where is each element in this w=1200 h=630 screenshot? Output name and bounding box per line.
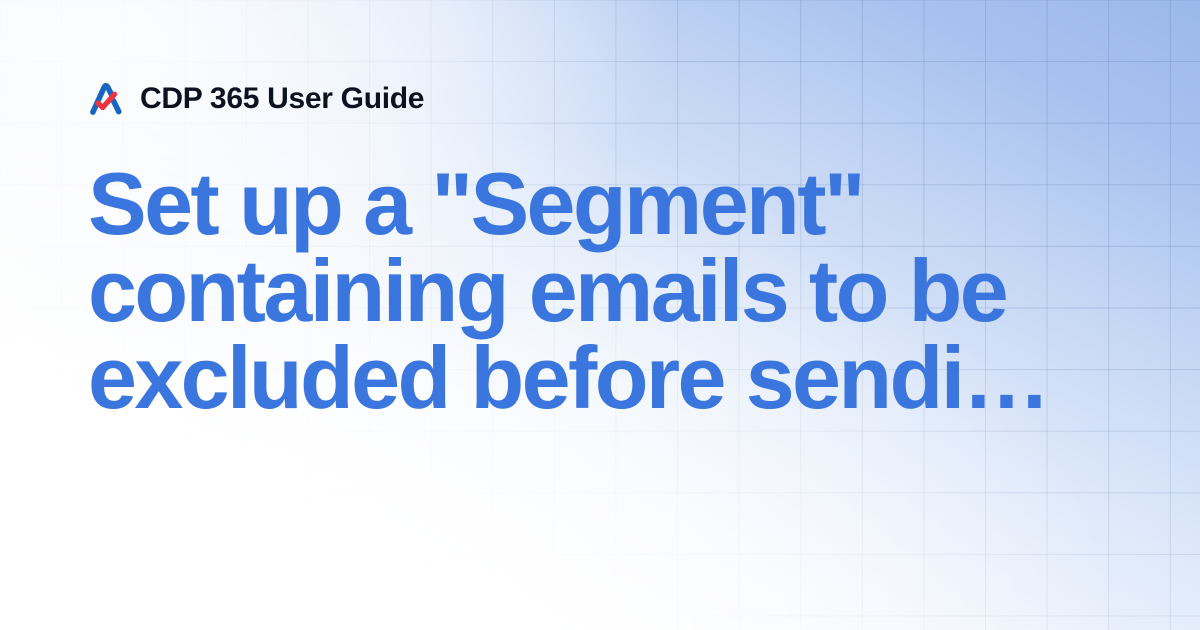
og-preview-card: CDP 365 User Guide Set up a "Segment" co…	[0, 0, 1200, 630]
page-title: Set up a "Segment" containing emails to …	[88, 160, 1120, 421]
cdp365-a-check-logo-icon	[88, 81, 124, 117]
brand-header: CDP 365 User Guide	[88, 76, 1120, 122]
card-content: CDP 365 User Guide Set up a "Segment" co…	[88, 76, 1120, 480]
site-title: CDP 365 User Guide	[140, 84, 424, 114]
